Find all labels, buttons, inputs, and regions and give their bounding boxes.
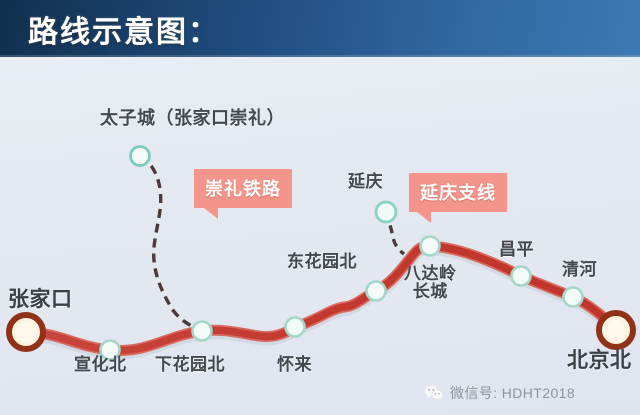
station-marker-qinghe[interactable] [564,288,583,307]
station-label-xiahuayuanbei: 下花园北 [155,356,225,374]
wechat-watermark: 微信号: HDHT2018 [424,383,575,403]
station-marker-yanqing[interactable] [376,202,396,222]
station-label-badaling: 八达岭 长城 [404,265,457,302]
badge-chongli-railway[interactable]: 崇礼铁路 [194,169,292,208]
badge-yanqing-label: 延庆支线 [420,183,496,203]
station-marker-donghuayuanbei[interactable] [367,282,386,301]
station-label-huailai: 怀来 [277,356,312,374]
station-label-yanqing: 延庆 [348,173,383,191]
chongli-branch-line [140,156,202,331]
wechat-id-text: 微信号: HDHT2018 [450,383,575,403]
station-marker-changping[interactable] [512,267,531,286]
badge-yanqing-branch[interactable]: 延庆支线 [409,173,507,212]
page-title: 路线示意图： [28,7,220,51]
station-marker-huailai[interactable] [286,318,305,337]
station-label-zhangjiakou: 张家口 [8,289,73,311]
station-marker-beijingbei[interactable] [599,313,633,347]
station-label-donghuayuanbei: 东花园北 [287,253,357,271]
station-marker-taizicheng[interactable] [131,147,150,166]
station-marker-badaling[interactable] [421,237,440,256]
station-marker-xiahuayuanbei[interactable] [193,322,212,341]
station-label-beijingbei: 北京北 [567,350,632,372]
station-label-taizicheng: 太子城（张家口崇礼） [100,109,285,128]
station-marker-zhangjiakou[interactable] [9,315,43,349]
wechat-icon [424,385,444,401]
header-bar: 路线示意图： [0,0,640,57]
station-label-changping: 昌平 [499,241,534,259]
station-label-qinghe: 清河 [562,261,597,279]
route-map-screenshot: 路线示意图： [0,0,640,415]
route-map-canvas: 张家口 宣化北 下花园北 怀来 东花园北 八达岭 长城 昌平 清河 北京北 太子… [0,57,640,415]
badge-chongli-label: 崇礼铁路 [205,179,281,199]
badge-chongli-tail [204,208,218,219]
station-label-xuanhuabei: 宣化北 [74,356,127,374]
badge-yanqing-tail [417,212,431,223]
